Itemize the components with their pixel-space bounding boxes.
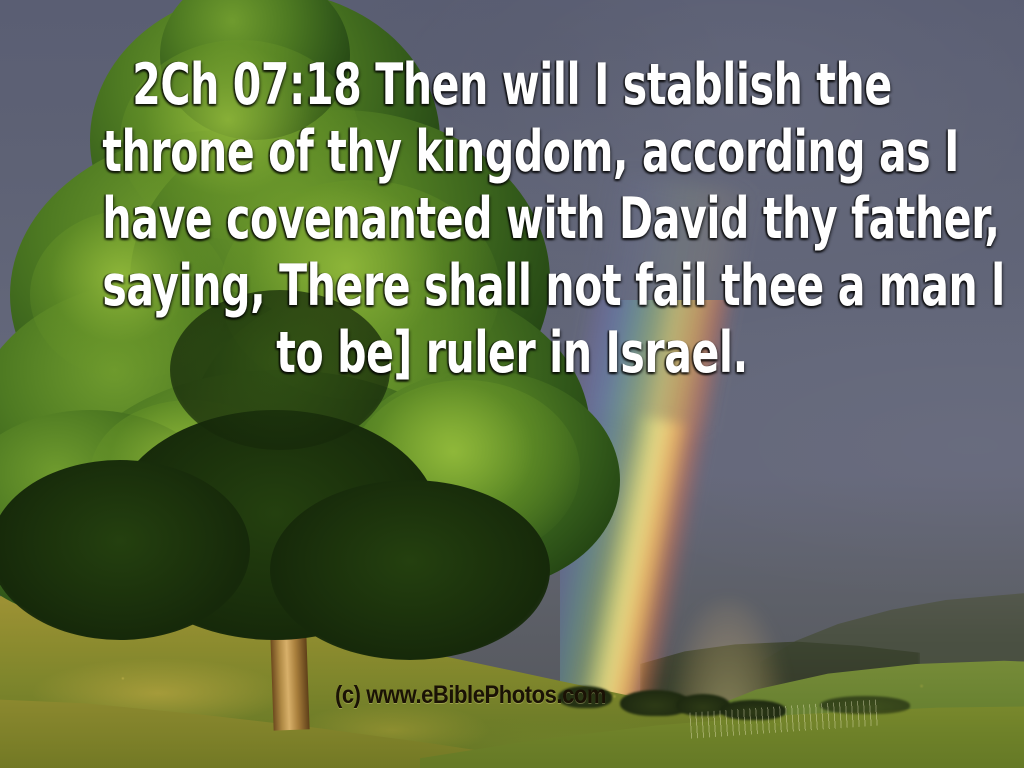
scripture-image: 2Ch 07:18 Then will I stablish the thron… (0, 0, 1024, 768)
tree-canopy-shadow (0, 460, 250, 640)
tree-canopy-shadow (270, 480, 550, 660)
tree (0, 0, 630, 710)
tree-canopy-shadow (170, 290, 390, 450)
